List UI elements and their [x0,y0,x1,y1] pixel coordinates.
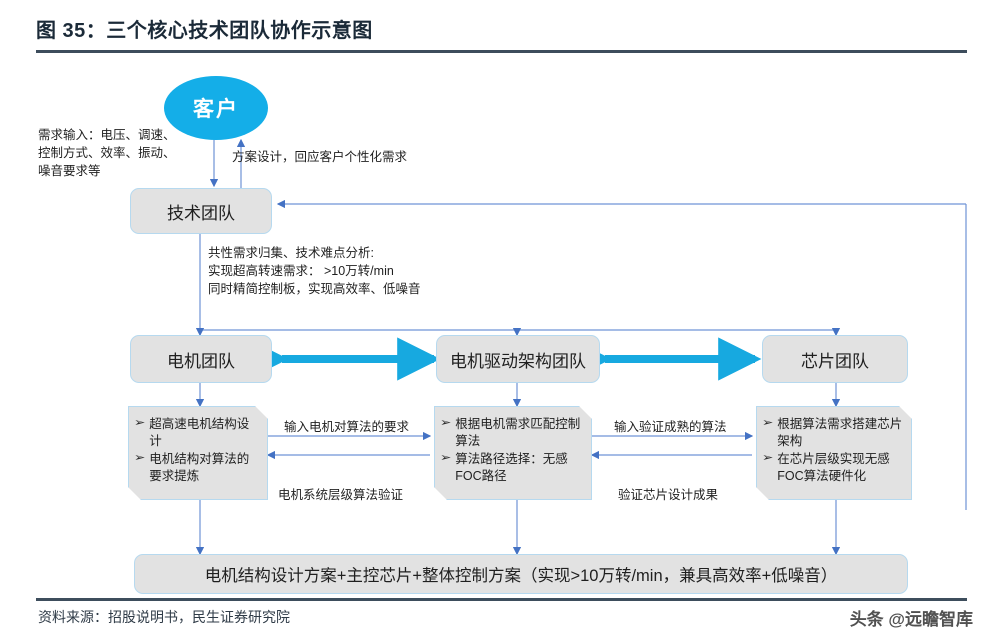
node-team-chip-label: 芯片团队 [801,347,869,372]
node-tech-team[interactable]: 技术团队 [130,188,272,234]
arrow-bullet-icon: ➢ [134,416,146,431]
node-team-motor[interactable]: 电机团队 [130,335,272,383]
arrow-bullet-icon: ➢ [440,451,452,466]
list-item: ➢ 电机结构对算法的要求提炼 [135,451,260,484]
title-divider [36,50,967,53]
card-driver-bullet-2: 算法路径选择：无感FOC路径 [455,451,584,484]
annotation-team-to-customer: 方案设计，回应客户个性化需求 [232,148,407,166]
page-title: 图 35：三个核心技术团队协作示意图 [36,14,373,43]
node-team-motor-label: 电机团队 [167,347,235,372]
annotation-customer-to-team: 需求输入：电压、调速、 控制方式、效率、振动、 噪音要求等 [38,126,218,180]
node-summary-label: 电机结构设计方案+主控芯片+整体控制方案（实现>10万转/min，兼具高效率+低… [205,562,838,586]
list-item: ➢ 在芯片层级实现无感FOC算法硬件化 [763,451,904,484]
annotation-chip-to-driver: 验证芯片设计成果 [618,486,718,504]
annotation-driver-to-motor: 电机系统层级算法验证 [278,486,403,504]
annotation-driver-to-chip: 输入验证成熟的算法 [614,418,727,436]
card-driver-bullet-1: 根据电机需求匹配控制算法 [455,416,584,449]
list-item: ➢ 算法路径选择：无感FOC路径 [441,451,584,484]
watermark: 头条 @远瞻智库 [850,605,973,630]
arrow-bullet-icon: ➢ [762,451,774,466]
card-chip-bullet-2: 在芯片层级实现无感FOC算法硬件化 [777,451,904,484]
arrow-bullet-icon: ➢ [134,451,146,466]
card-chip-detail[interactable]: ➢ 根据算法需求搭建芯片架构 ➢ 在芯片层级实现无感FOC算法硬件化 [756,406,912,500]
card-motor-detail[interactable]: ➢ 超高速电机结构设计 ➢ 电机结构对算法的要求提炼 [128,406,268,500]
node-summary[interactable]: 电机结构设计方案+主控芯片+整体控制方案（实现>10万转/min，兼具高效率+低… [134,554,908,594]
annotation-motor-to-driver: 输入电机对算法的要求 [284,418,409,436]
arrow-bullet-icon: ➢ [762,416,774,431]
footer-divider [36,598,967,601]
source-note: 资料来源：招股说明书，民生证券研究院 [38,607,290,627]
node-team-driver[interactable]: 电机驱动架构团队 [436,335,600,383]
card-motor-bullet-1: 超高速电机结构设计 [149,416,260,449]
figure-page: 图 35：三个核心技术团队协作示意图 [0,0,1001,642]
node-team-chip[interactable]: 芯片团队 [762,335,908,383]
node-tech-team-label: 技术团队 [167,199,235,224]
card-chip-bullet-1: 根据算法需求搭建芯片架构 [777,416,904,449]
arrow-bullet-icon: ➢ [440,416,452,431]
card-driver-detail[interactable]: ➢ 根据电机需求匹配控制算法 ➢ 算法路径选择：无感FOC路径 [434,406,592,500]
node-customer-label: 客户 [193,93,239,123]
node-team-driver-label: 电机驱动架构团队 [450,347,586,372]
list-item: ➢ 超高速电机结构设计 [135,416,260,449]
card-motor-bullet-2: 电机结构对算法的要求提炼 [149,451,260,484]
annotation-tech-analysis: 共性需求归集、技术难点分析: 实现超高转速需求： >10万转/min 同时精简控… [208,244,628,298]
list-item: ➢ 根据电机需求匹配控制算法 [441,416,584,449]
list-item: ➢ 根据算法需求搭建芯片架构 [763,416,904,449]
diagram-canvas: 客户 技术团队 电机团队 电机驱动架构团队 芯片团队 ➢ 超高速电机结构设计 ➢… [0,58,1001,596]
